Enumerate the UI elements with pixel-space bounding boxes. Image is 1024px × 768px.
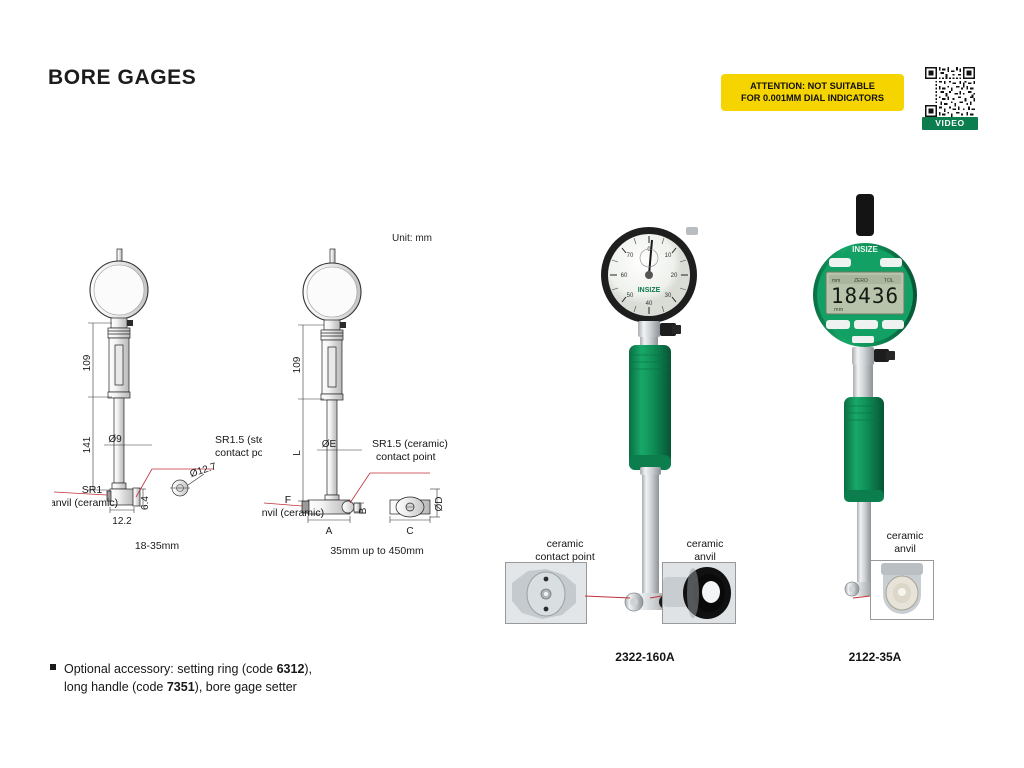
callout-anvil2-line2: anvil: [860, 543, 950, 556]
callout-contact-line1: ceramic: [505, 538, 625, 551]
drawing-35-450-svg: 109 L ØE A B C ØD F anvil (ceramic) SR1.…: [262, 245, 492, 555]
dim-6-4: 6.4: [140, 496, 151, 510]
technical-drawing-35-450mm: 109 L ØE A B C ØD F anvil (ceramic) SR1.…: [262, 245, 492, 555]
svg-text:40: 40: [646, 301, 653, 307]
footer-code-7351: 7351: [167, 680, 195, 694]
footer-line1-a: Optional accessory: setting ring (code: [64, 662, 277, 676]
dim-12-2: 12.2: [112, 516, 132, 527]
svg-text:50: 50: [627, 293, 634, 299]
technical-drawing-18-35mm: 109 141 Ø9 12.2 6.4 Ø12.7 SR1 anvil (cer…: [52, 245, 262, 555]
catalog-page: BORE GAGES ATTENTION: NOT SUITABLE FOR 0…: [0, 0, 1024, 768]
button-select[interactable]: [854, 320, 878, 329]
callout-contact-line2: contact point: [505, 551, 625, 564]
inset-contact-svg: [506, 563, 586, 623]
callout-F-line1: F: [285, 494, 291, 506]
button-start[interactable]: [826, 320, 850, 329]
callout-sr1-line2: anvil (ceramic): [52, 497, 118, 509]
inset-anvil2-svg: [871, 561, 933, 619]
footer-code-6312: 6312: [277, 662, 305, 676]
button-set[interactable]: [880, 258, 902, 267]
dim-109-drawing1: 109: [82, 354, 93, 371]
dim-d12-7: Ø12.7: [189, 461, 219, 480]
footer-optional-accessory: Optional accessory: setting ring (code 6…: [50, 660, 450, 696]
page-title: BORE GAGES: [48, 66, 196, 90]
dim-L: L: [292, 450, 303, 456]
callout-sr15c-line2: contact point: [376, 451, 436, 463]
callout-ceramic-anvil-1: ceramic anvil: [660, 538, 750, 564]
drawing-18-35-svg: 109 141 Ø9 12.2 6.4 Ø12.7 SR1 anvil (cer…: [52, 245, 262, 555]
digital-brand-label: INSIZE: [852, 245, 878, 254]
dim-C: C: [406, 526, 413, 537]
svg-text:30: 30: [665, 293, 672, 299]
button-origin[interactable]: [882, 320, 904, 329]
svg-text:20: 20: [671, 273, 678, 279]
drawing-2-caption: 35mm up to 450mm: [262, 545, 492, 557]
qr-code-icon[interactable]: [922, 67, 978, 117]
video-badge-label[interactable]: VIDEO: [922, 117, 978, 130]
callout-anvil1-line1: ceramic: [660, 538, 750, 551]
svg-text:70: 70: [627, 253, 634, 259]
inset-ceramic-anvil-1: [662, 562, 736, 624]
svg-text:10: 10: [665, 253, 672, 259]
dim-dD: ØD: [434, 497, 445, 512]
callout-sr15-line2: contact point: [215, 447, 262, 459]
callout-F-line2: anvil (ceramic): [262, 507, 324, 519]
product-code-2122-35A: 2122-35A: [805, 650, 945, 664]
bullet-square-icon: [50, 664, 56, 670]
button-zero-abs[interactable]: [829, 258, 851, 267]
callout-ceramic-contact-point: ceramic contact point: [505, 538, 625, 564]
inset-anvil1-svg: [663, 563, 735, 623]
dim-dE: ØE: [322, 439, 337, 450]
footer-line1-c: ),: [304, 662, 312, 676]
video-qr-block[interactable]: VIDEO: [922, 67, 978, 130]
dim-B: B: [358, 507, 369, 514]
callout-sr1-line1: SR1: [82, 484, 103, 496]
dim-141-drawing1: 141: [82, 436, 93, 453]
lcd-unit: mm: [834, 307, 844, 313]
button-extra[interactable]: [852, 336, 874, 343]
callout-ceramic-anvil-2: ceramic anvil: [860, 530, 950, 556]
drawing-1-caption: 18-35mm: [52, 540, 262, 552]
product-code-2322-160A: 2322-160A: [570, 650, 720, 664]
svg-text:60: 60: [621, 273, 628, 279]
dial-brand-label: INSIZE: [638, 287, 661, 294]
callout-anvil2-line1: ceramic: [860, 530, 950, 543]
footer-line2-a: long handle (code: [64, 680, 167, 694]
dim-A: A: [326, 526, 333, 537]
callout-sr15c-line1: SR1.5 (ceramic): [372, 438, 448, 450]
dim-d9-drawing1: Ø9: [108, 434, 122, 445]
callout-anvil1-line2: anvil: [660, 551, 750, 564]
attention-line-2: FOR 0.001MM DIAL INDICATORS: [725, 92, 900, 104]
attention-banner: ATTENTION: NOT SUITABLE FOR 0.001MM DIAL…: [721, 74, 904, 111]
callout-sr15-line1: SR1.5 (steel): [215, 434, 262, 446]
lcd-value: 18436: [831, 284, 899, 308]
unit-label: Unit: mm: [392, 233, 432, 244]
dim-109-drawing2: 109: [292, 356, 303, 373]
footer-line2-c: ), bore gage setter: [195, 680, 297, 694]
attention-line-1: ATTENTION: NOT SUITABLE: [725, 80, 900, 92]
inset-ceramic-anvil-2: [870, 560, 934, 620]
inset-ceramic-contact-point: [505, 562, 587, 624]
